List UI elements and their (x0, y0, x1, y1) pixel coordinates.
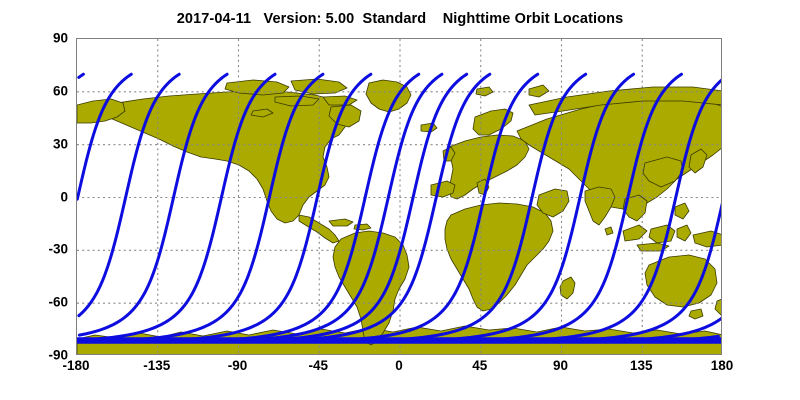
world-map-svg (77, 39, 722, 355)
land-borneo (649, 225, 675, 243)
ytick-label--60: -60 (28, 295, 68, 310)
land-madagascar (560, 277, 575, 299)
land-africa (445, 203, 553, 311)
xtick-label-45: 45 (450, 358, 510, 373)
land-philippines (675, 203, 689, 219)
figure-title: 2017-04-11 Version: 5.00 Standard Nightt… (0, 11, 800, 27)
land-arctic-islands-d (323, 96, 357, 105)
ytick-label-30: 30 (28, 136, 68, 151)
ytick-label-90: 90 (28, 31, 68, 46)
orbit-track-6 (79, 74, 84, 77)
xtick-label--45: -45 (288, 358, 348, 373)
xtick-label-180: 180 (692, 358, 752, 373)
land-tasmania (689, 309, 703, 319)
land-north-america (95, 91, 349, 223)
xtick-label--90: -90 (208, 358, 268, 373)
xtick-label-0: 0 (369, 358, 429, 373)
land-central-america (299, 215, 339, 243)
land-sulawesi (677, 225, 691, 241)
land-newguinea (693, 231, 722, 247)
ytick-label-0: 0 (28, 189, 68, 204)
land-sri-lanka (605, 227, 613, 235)
orbit-track-7 (77, 74, 131, 199)
orbit-map-figure: 2017-04-11 Version: 5.00 Standard Nightt… (0, 0, 800, 400)
xtick-label--180: -180 (46, 358, 106, 373)
ytick-label-60: 60 (28, 83, 68, 98)
plot-area (76, 38, 722, 355)
xtick-label-90: 90 (531, 358, 591, 373)
land-sumatra (623, 225, 647, 241)
land-novaya-zemlya (529, 85, 549, 97)
ytick-label--30: -30 (28, 242, 68, 257)
land-india (585, 187, 615, 225)
land-new-zealand-s (715, 297, 722, 315)
land-cuba (329, 219, 353, 226)
xtick-label-135: 135 (611, 358, 671, 373)
xtick-label--135: -135 (127, 358, 187, 373)
